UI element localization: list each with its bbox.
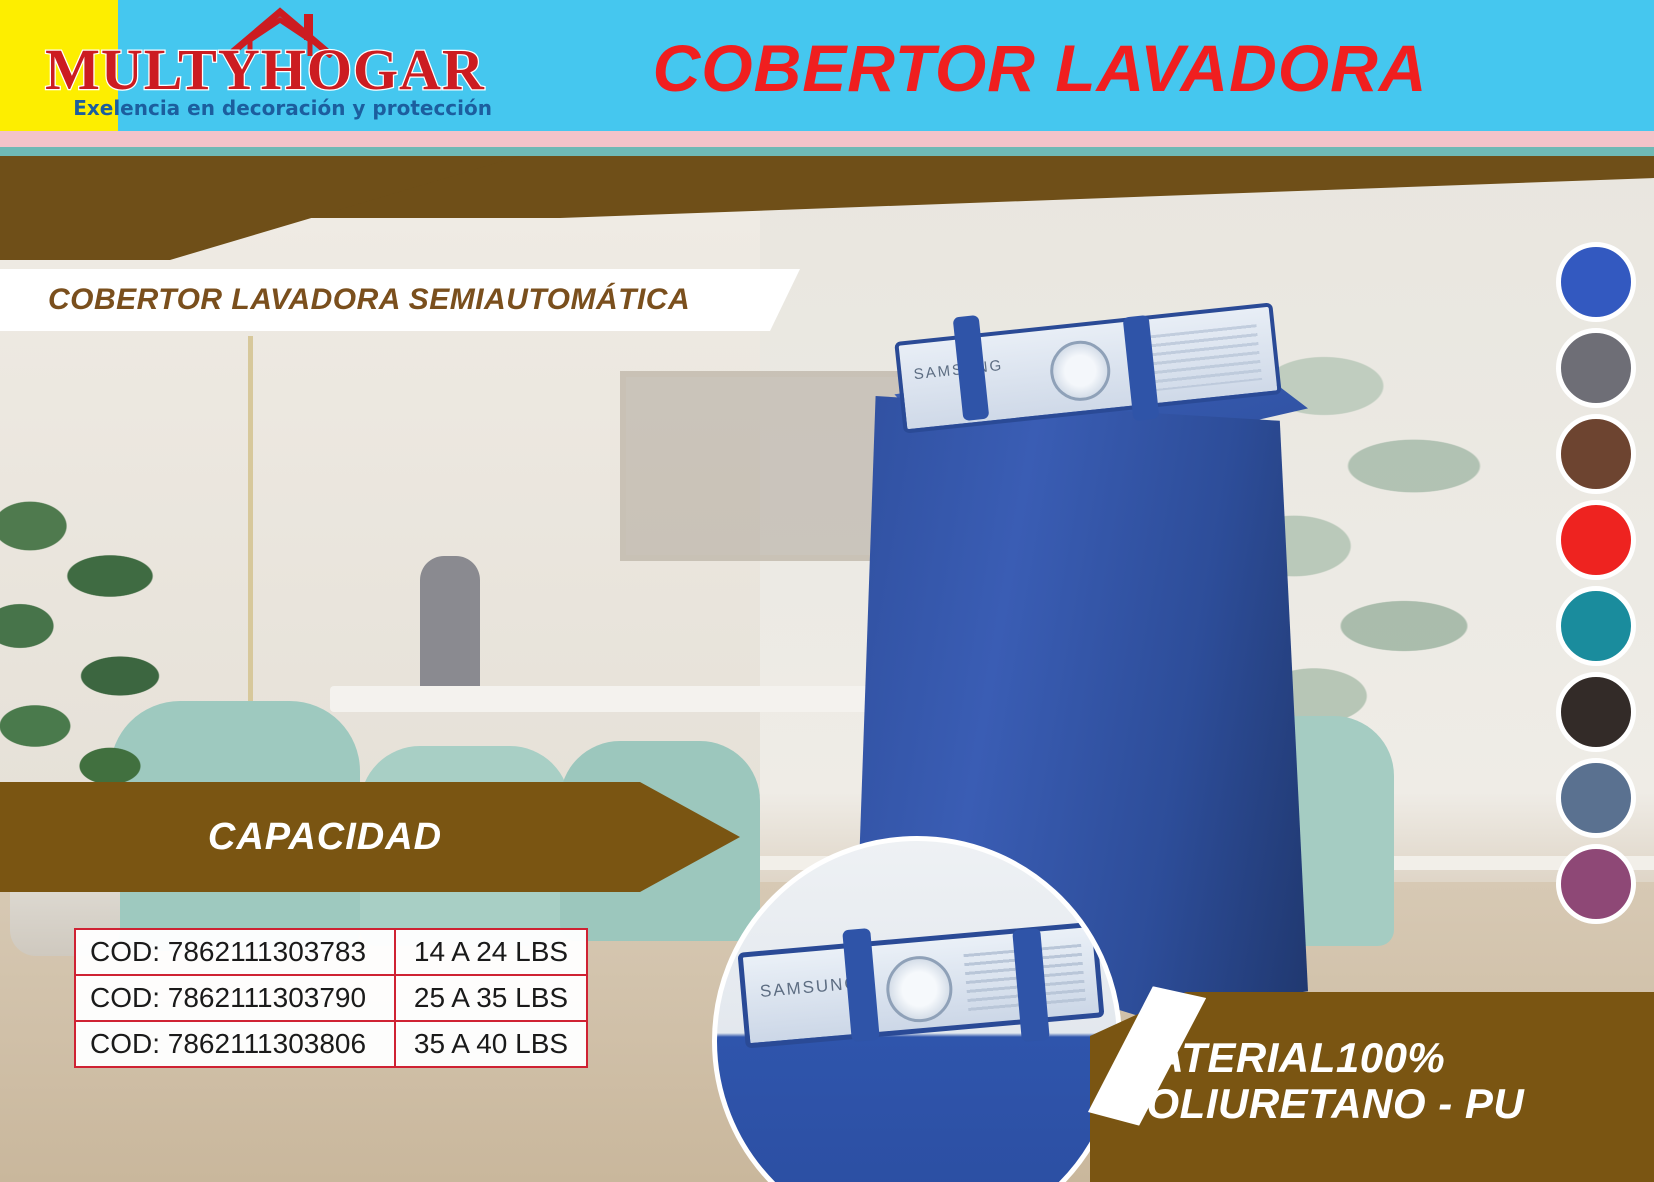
product-capacity: 35 A 40 LBS [395,1021,587,1067]
detail-window-panel: SAMSUNG [738,921,1105,1048]
capacity-label: CAPACIDAD [208,816,442,859]
subtitle-banner: COBERTOR LAVADORA SEMIAUTOMÁTICA [0,269,800,331]
material-text: MATERIAL100% POLIURETANO - PU [1118,1035,1638,1126]
product-capacity: 25 A 35 LBS [395,975,587,1021]
brand-name: MULTYHOGAR [30,41,500,99]
lifestyle-scene: COBERTOR LAVADORA SEMIAUTOMÁTICA CAPACID… [0,156,1654,1182]
product-code: COD: 7862111303806 [75,1021,395,1067]
control-panel-lines [1137,324,1262,392]
subtitle-text: COBERTOR LAVADORA SEMIAUTOMÁTICA [48,283,690,317]
brand-tagline: Exelencia en decoración y protección [30,96,500,120]
capacity-band: CAPACIDAD [0,782,740,892]
detail-dial-icon [884,953,956,1025]
floor-lamp-pole [248,336,253,756]
product-capacity: 14 A 24 LBS [395,929,587,975]
color-swatch-brown[interactable] [1556,414,1636,494]
material-line-2: POLIURETANO - PU [1118,1081,1638,1126]
code-table-body: COD: 7862111303783 14 A 24 LBS COD: 7862… [75,929,587,1067]
brand-logo: MULTYHOGAR Exelencia en decoración y pro… [30,4,500,126]
washer-dial-icon [1047,338,1113,404]
header-bar: MULTYHOGAR Exelencia en decoración y pro… [0,0,1654,131]
page-title: COBERTOR LAVADORA [600,30,1480,106]
color-swatch-royal-blue[interactable] [1556,242,1636,322]
detail-brand-label: SAMSUNG [759,973,860,1002]
color-swatch-list [1556,242,1636,924]
product-code: COD: 7862111303790 [75,975,395,1021]
divider-stripe-pink [0,131,1654,147]
product-code-table: COD: 7862111303783 14 A 24 LBS COD: 7862… [74,928,588,1068]
table-row: COD: 7862111303806 35 A 40 LBS [75,1021,587,1067]
product-code: COD: 7862111303783 [75,929,395,975]
divider-stripe-teal [0,147,1654,156]
decor-vase-left [420,556,480,706]
color-swatch-plum[interactable] [1556,844,1636,924]
material-line-1: MATERIAL100% [1118,1035,1638,1080]
table-row: COD: 7862111303790 25 A 35 LBS [75,975,587,1021]
table-row: COD: 7862111303783 14 A 24 LBS [75,929,587,975]
color-swatch-red[interactable] [1556,500,1636,580]
color-swatch-gray[interactable] [1556,328,1636,408]
color-swatch-teal[interactable] [1556,586,1636,666]
color-swatch-black[interactable] [1556,672,1636,752]
color-swatch-slate-blue[interactable] [1556,758,1636,838]
product-flyer: MULTYHOGAR Exelencia en decoración y pro… [0,0,1654,1182]
